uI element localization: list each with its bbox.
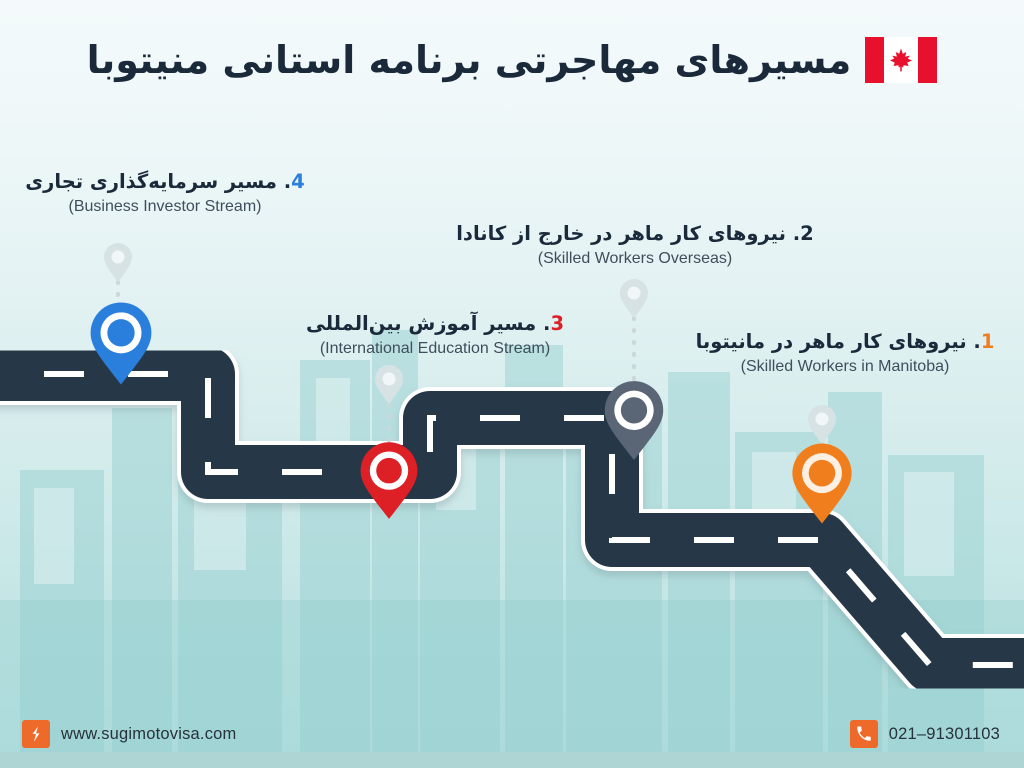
gray-map-pin[interactable] [605, 381, 663, 460]
stream-4-title-fa-text: مسیر سرمایه‌گذاری تجاری [25, 170, 277, 193]
stream-4-title-fa: 4. مسیر سرمایه‌گذاری تجاری [0, 170, 330, 194]
stream-2-title-fa: 2. نیروهای کار ماهر در خارج از کانادا [440, 222, 830, 246]
stream-3-title-fa: 3. مسیر آموزش بین‌المللی [290, 312, 580, 336]
canadian-flag-icon [865, 37, 937, 83]
ghost-pin-4 [104, 243, 132, 282]
page-header: مسیرهای مهاجرتی برنامه استانی منیتوبا [0, 0, 1024, 120]
flag-band-right [918, 37, 937, 83]
footer-strip [0, 752, 1024, 768]
infographic-canvas: مسیرهای مهاجرتی برنامه استانی منیتوبا 4.… [0, 0, 1024, 768]
orange-map-pin[interactable] [792, 444, 851, 524]
stream-1-title-fa: 1. نیروهای کار ماهر در مانیتوبا [690, 330, 1000, 354]
footer-phone[interactable]: 021–91301103 [850, 720, 1000, 748]
phone-text: 021–91301103 [889, 725, 1000, 744]
page-title: مسیرهای مهاجرتی برنامه استانی منیتوبا [87, 41, 852, 79]
stream-1-title-en: (Skilled Workers in Manitoba) [690, 357, 1000, 376]
stream-1-number: 1 [981, 330, 995, 353]
stream-2-title-en: (Skilled Workers Overseas) [440, 249, 830, 268]
brand-glyph [25, 723, 47, 745]
stream-1-title-fa-text: نیروهای کار ماهر در مانیتوبا [696, 330, 967, 353]
red-map-pin[interactable] [361, 442, 418, 519]
phone-glyph [855, 725, 873, 743]
stream-label-2: 2. نیروهای کار ماهر در خارج از کانادا (S… [440, 222, 830, 269]
ghost-pin-1 [808, 405, 836, 444]
blue-map-pin[interactable] [91, 302, 152, 384]
phone-icon [850, 720, 878, 748]
stream-4-number: 4 [291, 170, 305, 193]
stream-2-number: 2 [800, 222, 814, 245]
stream-3-number: 3 [550, 312, 564, 335]
stream-label-3: 3. مسیر آموزش بین‌المللی (International … [290, 312, 580, 359]
brand-logo-icon [22, 720, 50, 748]
stream-3-title-en: (International Education Stream) [290, 339, 580, 358]
maple-leaf-icon [888, 47, 914, 73]
footer-website[interactable]: www.sugimotovisa.com [22, 720, 236, 748]
stream-label-1: 1. نیروهای کار ماهر در مانیتوبا (Skilled… [690, 330, 1000, 377]
stream-label-4: 4. مسیر سرمایه‌گذاری تجاری (Business Inv… [0, 170, 330, 217]
ghost-pin-2 [620, 279, 648, 318]
stream-3-title-fa-text: مسیر آموزش بین‌المللی [306, 312, 536, 335]
stream-2-title-fa-text: نیروهای کار ماهر در خارج از کانادا [456, 222, 786, 245]
stream-4-title-en: (Business Investor Stream) [0, 197, 330, 216]
website-text: www.sugimotovisa.com [61, 725, 236, 744]
flag-band-left [865, 37, 884, 83]
ghost-pin-3 [375, 365, 403, 404]
